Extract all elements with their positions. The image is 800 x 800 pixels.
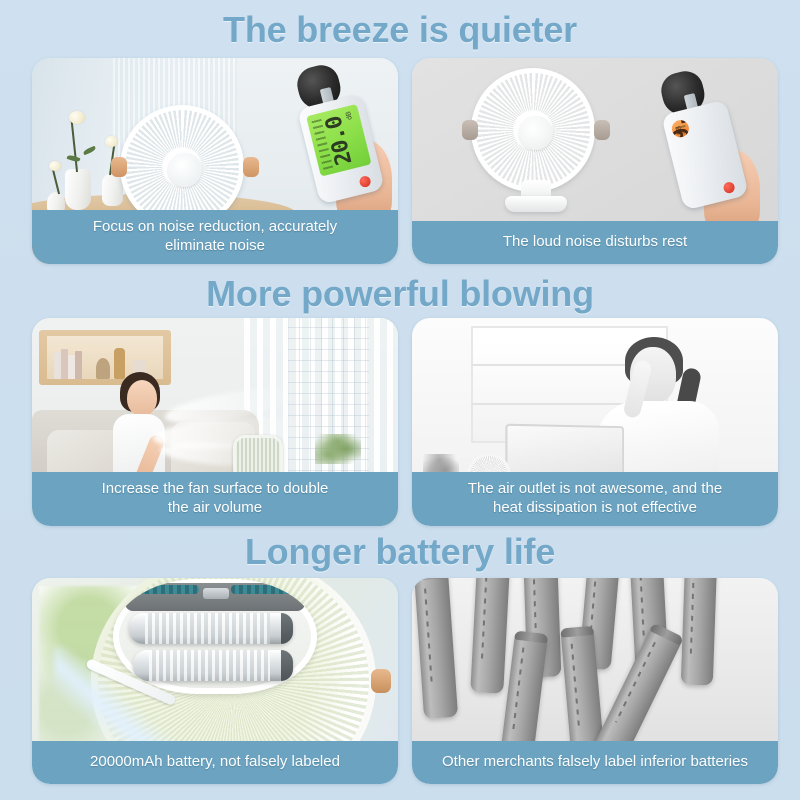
usb-port [203, 588, 229, 599]
card-inferior-batteries: Other merchants falsely label inferior b… [412, 578, 778, 784]
sound-level-meter-quiet: dB 20.0 [296, 66, 374, 198]
cell-terminal [414, 578, 449, 580]
battery-cell [129, 613, 293, 644]
fan-hub [519, 116, 553, 150]
card-loud-fan: dB 69.8 The loud noise disturbs rest [412, 58, 778, 264]
book [75, 351, 82, 380]
card-big-battery: 20000mAh battery, not falsely labeled [32, 578, 398, 784]
card-poor-airflow: The air outlet is not awesome, and the h… [412, 318, 778, 526]
section-heading-2: More powerful blowing [0, 276, 800, 312]
sound-level-meter-loud: dB 69.8 [660, 72, 738, 204]
fan-pivot-knob [594, 120, 610, 140]
caption-line: Increase the fan surface to double [102, 480, 329, 497]
card-caption: The loud noise disturbs rest [412, 221, 778, 264]
section-heading-1: The breeze is quieter [0, 12, 800, 48]
battery-ridges [145, 613, 270, 644]
book [61, 349, 68, 379]
battery-cell [681, 578, 717, 686]
decor-bottle [114, 348, 125, 379]
meter-body: dB 69.8 [661, 99, 749, 210]
card-caption: Focus on noise reduction, accurately eli… [32, 210, 398, 264]
fan-pivot-knob [462, 120, 478, 140]
caption-line: eliminate noise [165, 237, 265, 254]
caption-line: heat dissipation is not effective [493, 499, 697, 516]
fan-hub [168, 153, 202, 187]
fan-pivot-knob [371, 669, 391, 693]
card-powerful-airflow: Increase the fan surface to double the a… [32, 318, 398, 526]
fan-pivot-knob [243, 157, 259, 177]
flower-bloom [105, 136, 118, 147]
meter-display: dB 20.0 [306, 104, 371, 177]
caption-line: the air volume [168, 499, 262, 516]
internal-wiring [129, 585, 199, 594]
caption-line: The air outlet is not awesome, and the [468, 480, 722, 497]
cell-terminal [560, 626, 594, 638]
person-head [127, 380, 157, 416]
vase-tall [65, 169, 91, 210]
internal-wiring [231, 585, 301, 594]
competitor-fan [471, 68, 601, 198]
battery-cell [414, 578, 458, 719]
caption-line: 20000mAh battery, not falsely labeled [90, 753, 340, 770]
fan-pivot-knob [111, 157, 127, 177]
book [68, 355, 75, 379]
battery-terminal-cap [281, 613, 293, 644]
card-caption: Increase the fan surface to double the a… [32, 472, 398, 526]
decor-object [96, 358, 110, 379]
cell-terminal [649, 623, 684, 646]
battery-terminal-cap [281, 650, 293, 681]
fan-base [505, 196, 567, 212]
caption-line: The loud noise disturbs rest [503, 233, 687, 250]
potted-plant-leaves [315, 434, 361, 464]
card-quiet-fan: dB 20.0 Focus on noise reduction, accura… [32, 58, 398, 264]
card-caption: Other merchants falsely label inferior b… [412, 741, 778, 784]
caption-line: Other merchants falsely label inferior b… [442, 753, 748, 770]
meter-display: dB 69.8 [670, 118, 691, 139]
battery-cell [470, 578, 511, 694]
meter-reading-value: 69.8 [670, 118, 691, 139]
book [54, 352, 61, 379]
infographic-page: The breeze is quieter [0, 0, 800, 800]
card-caption: The air outlet is not awesome, and the h… [412, 472, 778, 526]
section-heading-3: Longer battery life [0, 534, 800, 570]
meter-power-button [722, 181, 735, 194]
meter-body: dB 20.0 [297, 93, 385, 204]
meter-power-button [358, 175, 371, 188]
caption-line: Focus on noise reduction, accurately [93, 218, 337, 235]
card-caption: 20000mAh battery, not falsely labeled [32, 741, 398, 784]
